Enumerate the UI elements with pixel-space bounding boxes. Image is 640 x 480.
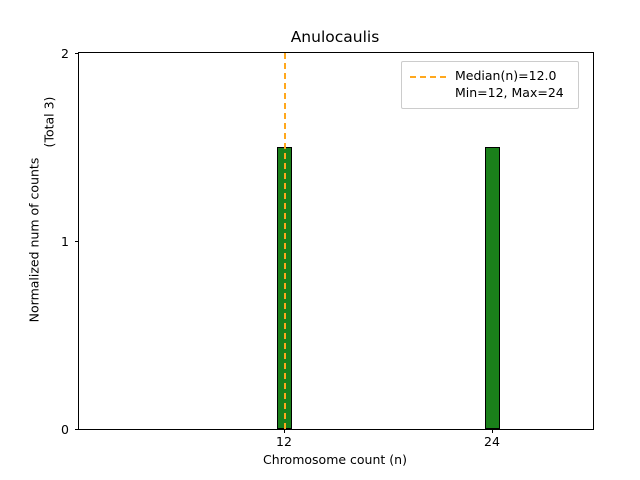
legend-item-minmax: Min=12, Max=24 <box>410 85 570 102</box>
x-tick-24 <box>492 429 493 433</box>
x-tick-label-24: 24 <box>484 436 500 449</box>
y-tick-2: 2 <box>75 53 79 54</box>
x-tick-12 <box>284 429 285 433</box>
chart-title: Anulocaulis <box>78 28 592 46</box>
figure-canvas: Anulocaulis Normalized num of counts (To… <box>0 0 640 480</box>
median-line <box>284 53 286 429</box>
y-tick-label-2: 2 <box>61 48 69 61</box>
y-tick-label-1: 1 <box>61 236 69 249</box>
plot-area: 0 1 2 12 24 Median(n)=12.0 Min=12, Max=2… <box>78 52 594 430</box>
x-axis-label: Chromosome count (n) <box>78 452 592 467</box>
y-axis-total-label: (Total 3) <box>42 97 57 148</box>
y-axis-label: Normalized num of counts <box>27 158 42 323</box>
bar-24 <box>485 147 500 429</box>
y-tick-1: 1 <box>75 241 79 242</box>
legend-item-median: Median(n)=12.0 <box>410 68 570 85</box>
legend: Median(n)=12.0 Min=12, Max=24 <box>401 61 579 109</box>
legend-label-median: Median(n)=12.0 <box>455 70 556 83</box>
dashed-line-icon <box>410 76 446 78</box>
x-tick-label-12: 12 <box>276 436 292 449</box>
y-tick-label-0: 0 <box>61 424 69 437</box>
legend-label-minmax: Min=12, Max=24 <box>455 87 564 100</box>
y-tick-0: 0 <box>75 429 79 430</box>
